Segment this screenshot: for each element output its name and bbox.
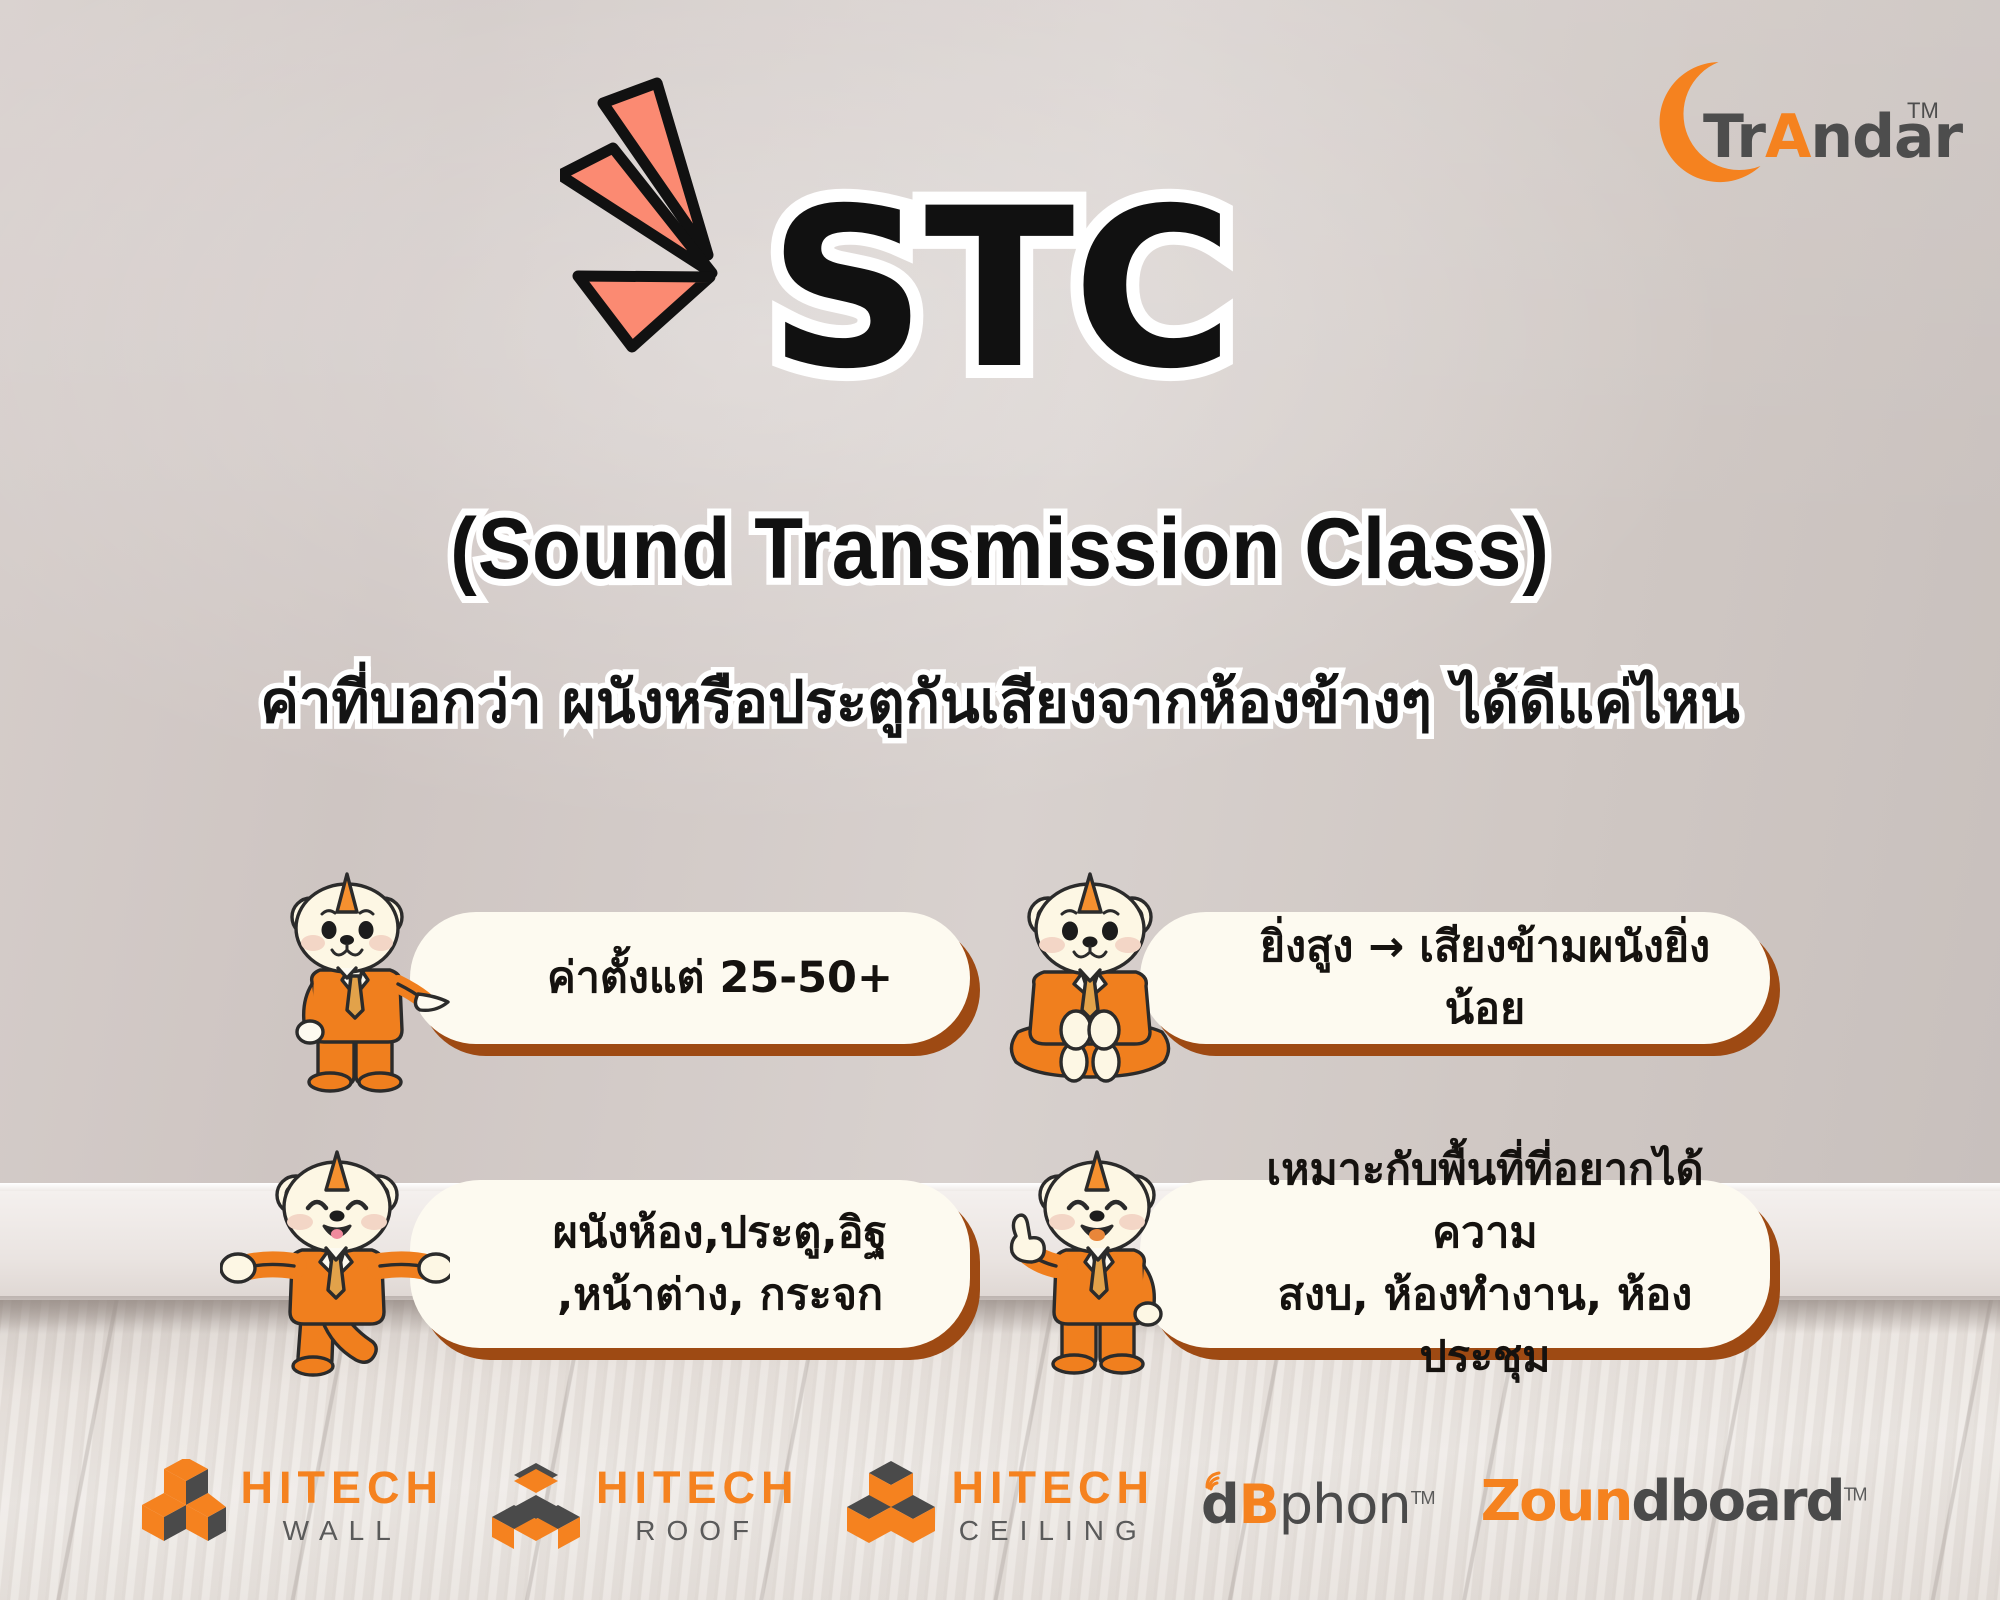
brand-subname: CEILING [951, 1517, 1155, 1545]
brand-subname: WALL [240, 1517, 444, 1545]
brand-wordmark: dBphonTM [1201, 1473, 1435, 1536]
brand-zoundboard: ZoundboardTM [1481, 1455, 1866, 1555]
brand-dbphon: dBphonTM [1201, 1455, 1435, 1555]
isometric-cubes-icon [845, 1459, 937, 1551]
footer-brand-strip: HITECH WALL HITECH ROOF [0, 1440, 2000, 1570]
brand-hitech-roof: HITECH ROOF [490, 1455, 800, 1555]
brand-name: HITECH [951, 1465, 1155, 1510]
brand-hitech-ceiling: HITECH CEILING [845, 1455, 1155, 1555]
callout-text: ยิ่งสูง → เสียงข้ามผนังยิ่งน้อย [1140, 916, 1770, 1041]
callout-bubble: ยิ่งสูง → เสียงข้ามผนังยิ่งน้อย [1140, 912, 1770, 1044]
callout-bubble: เหมาะกับพื้นที่ที่อยากได้ความ สงบ, ห้องท… [1140, 1180, 1770, 1348]
bear-arms-up-mascot [220, 1150, 450, 1390]
bear-pointing-mascot [260, 870, 450, 1100]
callout-text: เหมาะกับพื้นที่ที่อยากได้ความ สงบ, ห้องท… [1140, 1139, 1770, 1388]
page-title: STC [760, 185, 1240, 394]
brand-subname: ROOF [596, 1517, 800, 1545]
page-subtitle: (Sound Transmission Class) [303, 500, 1698, 599]
bear-thumbs-up-mascot [1000, 1150, 1190, 1385]
trandar-logo: TrAndar TM [1625, 62, 1965, 202]
thai-subtitle: ค่าที่บอกว่า ผนังหรือประตูกันเสียงจากห้อ… [140, 655, 1860, 748]
sound-burst-rays-icon [560, 70, 760, 360]
brand-name: HITECH [240, 1465, 444, 1510]
brand-name: HITECH [596, 1465, 800, 1510]
callout-text: ผนังห้อง,ประตู,อิฐ ,หน้าต่าง, กระจก [463, 1202, 917, 1327]
callout-text: ค่าตั้งแต่ 25-50+ [457, 947, 923, 1009]
bear-sitting-mascot [1000, 872, 1180, 1097]
callout-bubble: ค่าตั้งแต่ 25-50+ [410, 912, 970, 1044]
trandar-trademark: TM [1907, 98, 1939, 124]
brand-hitech-wall: HITECH WALL [134, 1455, 444, 1555]
isometric-cubes-icon [134, 1459, 226, 1551]
callout-bubble: ผนังห้อง,ประตู,อิฐ ,หน้าต่าง, กระจก [410, 1180, 970, 1348]
brand-wordmark: ZoundboardTM [1481, 1469, 1866, 1534]
isometric-cubes-icon [490, 1459, 582, 1551]
